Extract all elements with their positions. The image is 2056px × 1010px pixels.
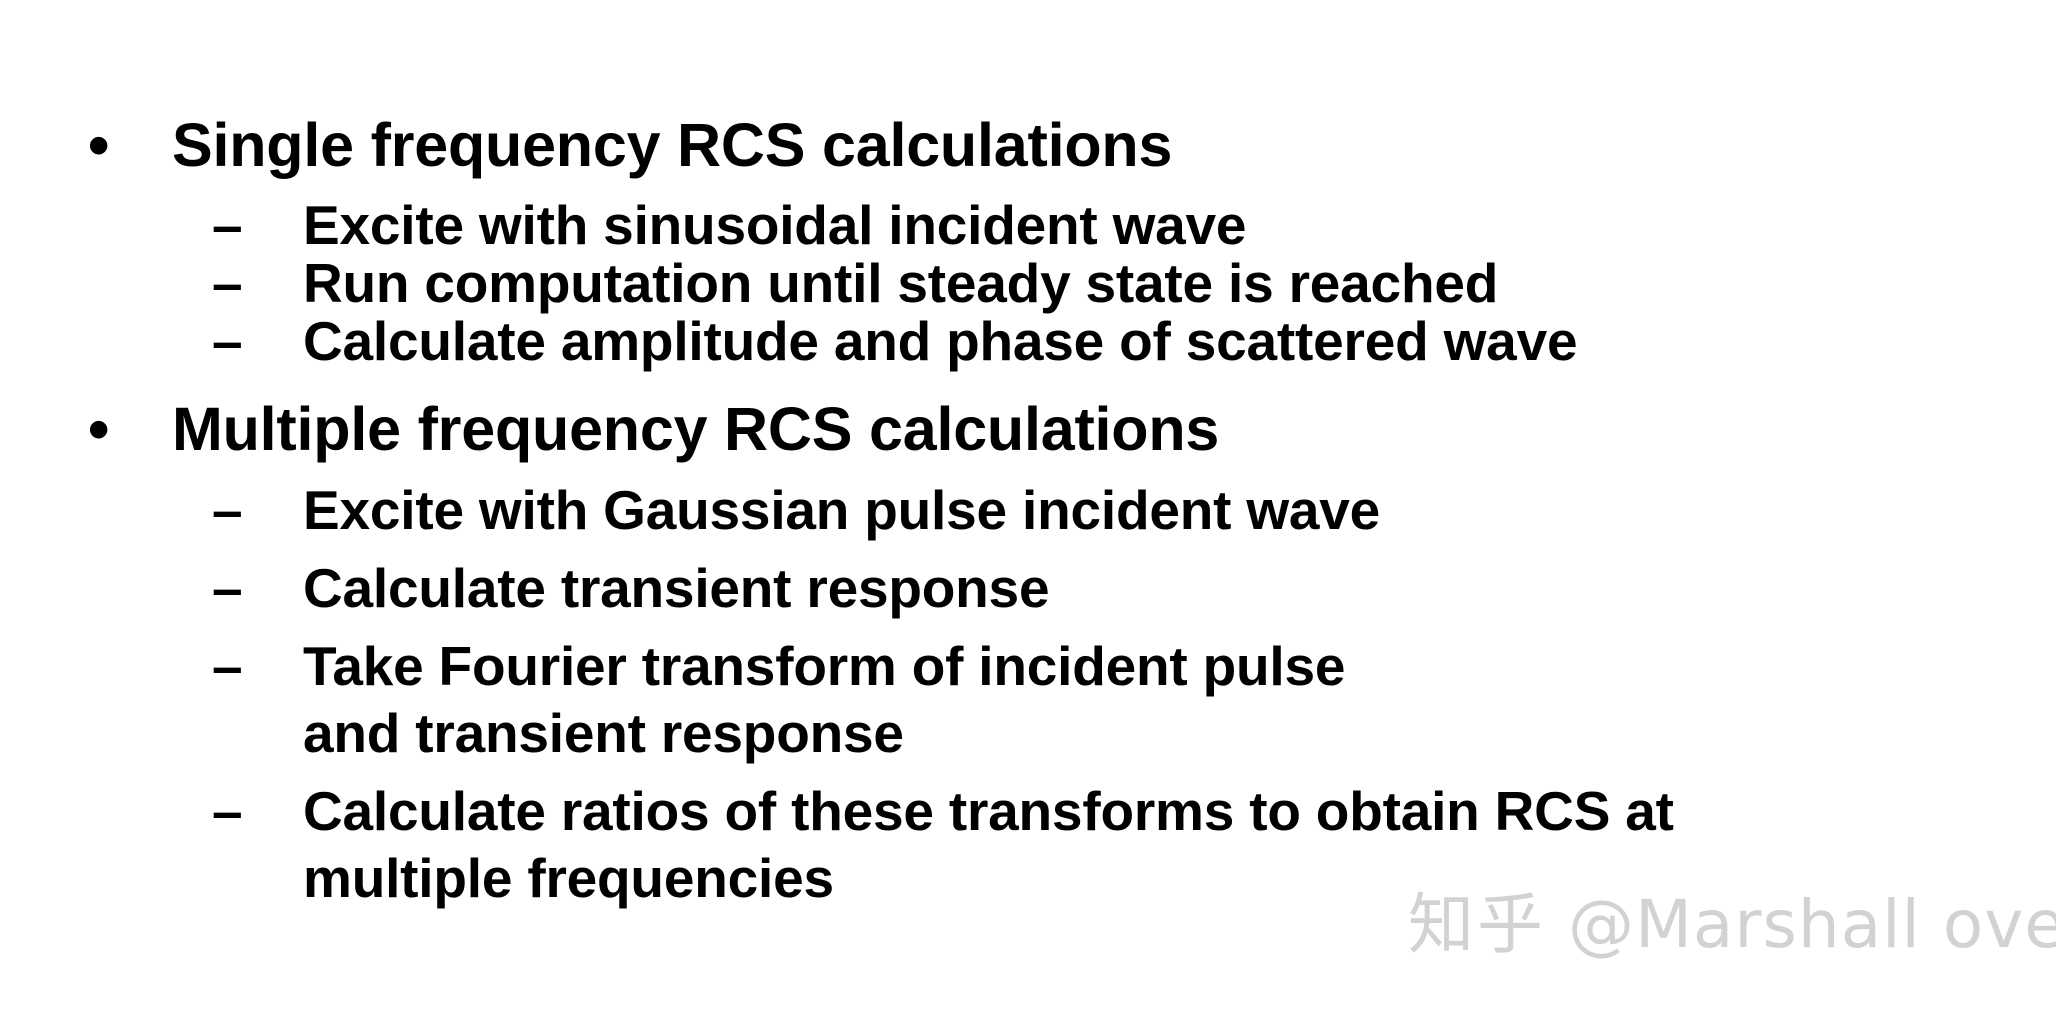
list-item: • Single frequency RCS calculations [0, 108, 2056, 182]
list-item: – Calculate transient response [0, 555, 2056, 622]
bullet-dash-icon: – [212, 192, 262, 259]
bullet-text: Take Fourier transform of incident pulse… [303, 633, 1396, 767]
bullet-text: Multiple frequency RCS calculations [172, 392, 2056, 466]
bullet-text: Calculate amplitude and phase of scatter… [303, 308, 1936, 375]
bullet-text: Calculate ratios of these transforms to … [303, 778, 1726, 912]
bullet-level2-excite-sinusoidal: – Excite with sinusoidal incident wave [0, 192, 2056, 259]
list-item: – Calculate ratios of these transforms t… [0, 778, 2056, 912]
bullet-dot-icon: • [88, 392, 128, 466]
list-item: – Take Fourier transform of incident pul… [0, 633, 2056, 767]
list-item: – Excite with sinusoidal incident wave [0, 192, 2056, 259]
bullet-dash-icon: – [212, 555, 262, 622]
list-item: – Calculate amplitude and phase of scatt… [0, 308, 2056, 375]
bullet-text: Single frequency RCS calculations [172, 108, 2056, 182]
list-item: • Multiple frequency RCS calculations [0, 392, 2056, 466]
bullet-dash-icon: – [212, 250, 262, 317]
bullet-dash-icon: – [212, 633, 262, 700]
bullet-level1-single-frequency: • Single frequency RCS calculations [0, 108, 2056, 182]
bullet-level2-calculate-transient: – Calculate transient response [0, 555, 2056, 622]
bullet-level2-calculate-ratios: – Calculate ratios of these transforms t… [0, 778, 2056, 912]
bullet-dash-icon: – [212, 308, 262, 375]
bullet-level2-excite-gaussian: – Excite with Gaussian pulse incident wa… [0, 477, 2056, 544]
bullet-text: Excite with sinusoidal incident wave [303, 192, 1936, 259]
list-item: – Run computation until steady state is … [0, 250, 2056, 317]
bullet-level2-run-computation: – Run computation until steady state is … [0, 250, 2056, 317]
slide-canvas: 知乎 @Marshall over • Single frequency RCS… [0, 0, 2056, 1010]
bullet-text: Run computation until steady state is re… [303, 250, 1936, 317]
bullet-dash-icon: – [212, 778, 262, 845]
bullet-level2-fourier-transform: – Take Fourier transform of incident pul… [0, 633, 2056, 767]
bullet-dash-icon: – [212, 477, 262, 544]
bullet-dot-icon: • [88, 108, 128, 182]
bullet-level1-multiple-frequency: • Multiple frequency RCS calculations [0, 392, 2056, 466]
bullet-text: Calculate transient response [303, 555, 1936, 622]
bullet-text: Excite with Gaussian pulse incident wave [303, 477, 1936, 544]
list-item: – Excite with Gaussian pulse incident wa… [0, 477, 2056, 544]
bullet-level2-calculate-amplitude-phase: – Calculate amplitude and phase of scatt… [0, 308, 2056, 375]
